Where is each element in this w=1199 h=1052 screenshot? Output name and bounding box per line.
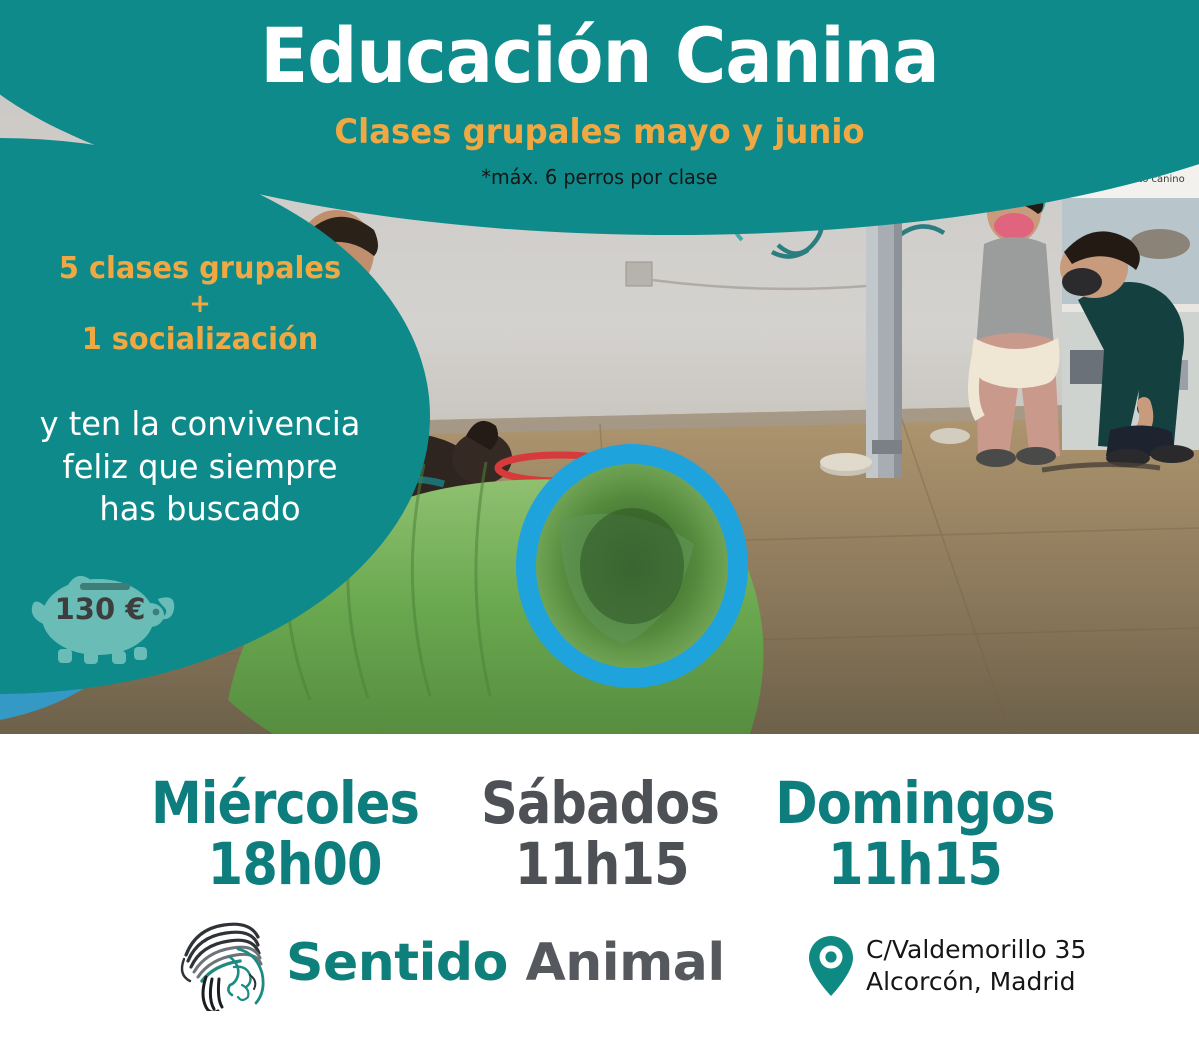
promo-plus-symbol: + xyxy=(0,288,400,321)
schedule-time-label: 11h15 xyxy=(476,832,722,897)
capacity-note: *máx. 6 perros por clase xyxy=(24,165,1175,189)
page-title: Educación Canina xyxy=(48,16,1151,96)
schedule-day-label: Sábados xyxy=(476,774,722,832)
map-pin-icon xyxy=(808,935,854,997)
promo-socialization-line: 1 socialización xyxy=(8,321,392,359)
schedule-time-label: 18h00 xyxy=(131,832,439,897)
brand-name: Sentido Animal xyxy=(286,933,725,993)
poster-root: sienteatuperro.com Adiestramiento canino xyxy=(0,0,1199,1052)
schedule-day-label: Miércoles xyxy=(131,774,439,832)
schedule-item-domingos: Domingos 11h15 xyxy=(740,774,1090,897)
promo-tagline-line-2: feliz que siempre xyxy=(6,446,394,488)
schedule-row: Miércoles 18h00 Sábados 11h15 Domingos 1… xyxy=(0,774,1199,897)
schedule-item-miercoles: Miércoles 18h00 xyxy=(110,774,460,897)
address-text: C/Valdemorillo 35 Alcorcón, Madrid xyxy=(866,934,1086,998)
header-block: Educación Canina Clases grupales mayo y … xyxy=(0,0,1199,189)
address-line-1: C/Valdemorillo 35 xyxy=(866,934,1086,966)
schedule-item-sabados: Sábados 11h15 xyxy=(460,774,740,897)
woman-dog-profile-logo xyxy=(172,915,280,1011)
promo-tagline-line-1: y ten la convivencia xyxy=(6,403,394,445)
price-badge: 130 € xyxy=(24,565,184,665)
brand-name-part2: Animal xyxy=(525,933,724,993)
schedule-time-label: 11h15 xyxy=(761,832,1069,897)
schedule-day-label: Domingos xyxy=(761,774,1069,832)
promo-tagline: y ten la convivencia feliz que siempre h… xyxy=(6,403,394,530)
brand-logo: Sentido Animal xyxy=(172,915,725,1011)
page-subtitle: Clases grupales mayo y junio xyxy=(30,112,1169,153)
footer: Miércoles 18h00 Sábados 11h15 Domingos 1… xyxy=(0,734,1199,1052)
address-line-2: Alcorcón, Madrid xyxy=(866,966,1086,998)
promo-tagline-line-3: has buscado xyxy=(6,488,394,530)
location-block: C/Valdemorillo 35 Alcorcón, Madrid xyxy=(808,934,1086,998)
price-value: 130 € xyxy=(24,592,176,626)
promo-classes-line: 5 clases grupales xyxy=(8,250,392,288)
brand-name-part1: Sentido xyxy=(286,933,508,993)
promo-block: 5 clases grupales + 1 socialización y te… xyxy=(0,250,400,530)
